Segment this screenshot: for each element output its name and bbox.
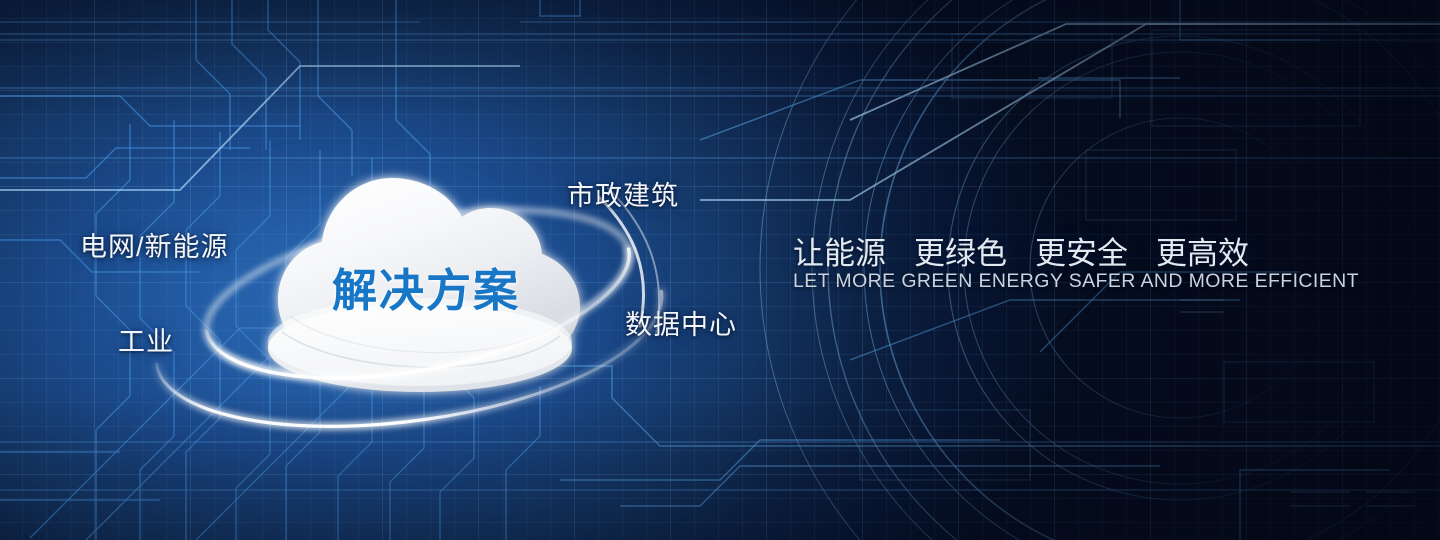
tagline-chinese: 让能源更绿色更安全更高效 xyxy=(793,228,1249,273)
tagline-segment-1: 让能源 xyxy=(793,236,886,271)
label-industry: 工业 xyxy=(118,320,174,359)
page-title: 解决方案 xyxy=(332,254,520,319)
label-power-grid: 电网/新能源 xyxy=(80,225,229,264)
label-data-center: 数据中心 xyxy=(625,303,737,342)
solutions-banner: 电网/新能源 工业 市政建筑 数据中心 解决方案 让能源更绿色更安全更高效 LE… xyxy=(0,0,1440,540)
tagline-segment-3: 更安全 xyxy=(1035,236,1128,271)
tagline-english: LET MORE GREEN ENERGY SAFER AND MORE EFF… xyxy=(793,270,1359,293)
tagline-segment-4: 更高效 xyxy=(1156,236,1249,271)
label-municipal-building: 市政建筑 xyxy=(567,174,679,213)
tagline-segment-2: 更绿色 xyxy=(914,236,1007,271)
